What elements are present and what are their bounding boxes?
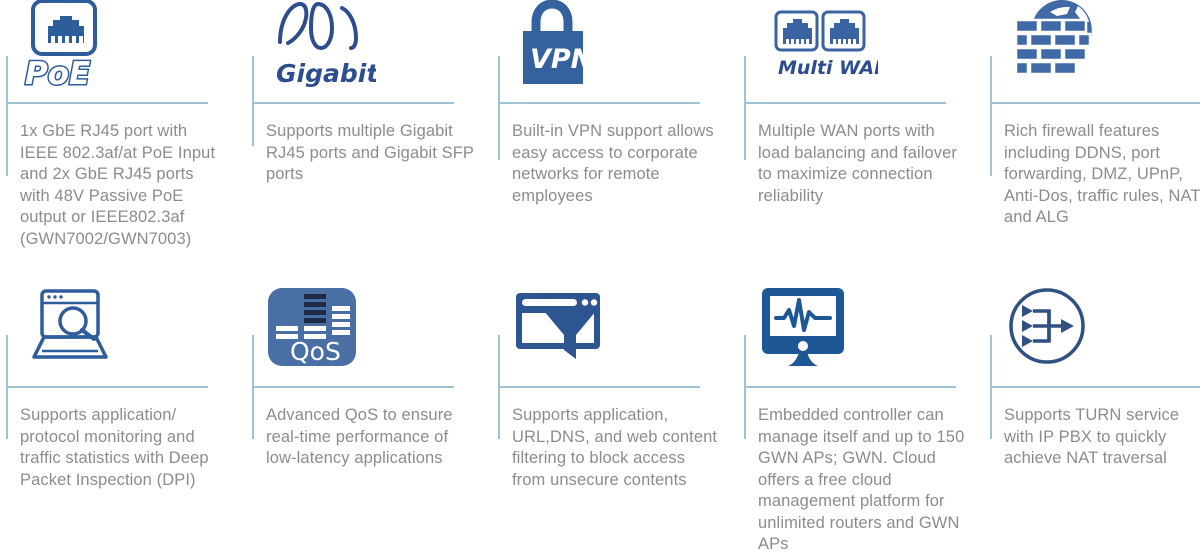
icon-container (984, 279, 1196, 379)
vertical-rule (744, 335, 746, 439)
feature-card-firewall: Rich firewall features including DDNS, p… (984, 0, 1196, 250)
feature-description: Embedded controller can manage itself an… (758, 405, 966, 556)
vpn-lock-icon: VPN (512, 0, 600, 95)
horizontal-rule (252, 102, 454, 104)
icon-container (984, 0, 1196, 95)
horizontal-rule (498, 386, 700, 388)
horizontal-rule (744, 102, 946, 104)
feature-card-poe: PoE 1x GbE RJ45 port with IEEE 802.3af/a… (0, 0, 246, 250)
feature-card-qos: QoS Advanced QoS to ensure real-time per… (246, 279, 492, 556)
icon-container: Gigabit (246, 0, 492, 95)
icon-container: QoS (246, 279, 492, 379)
turn-nat-traversal-icon (1004, 286, 1090, 373)
laptop-magnifier-icon (20, 287, 120, 372)
vertical-rule (6, 56, 8, 176)
feature-description: 1x GbE RJ45 port with IEEE 802.3af/at Po… (20, 121, 228, 250)
vertical-rule (990, 56, 992, 176)
feature-row-2: Supports application/ protocol monitorin… (0, 279, 1200, 556)
horizontal-rule (990, 386, 1200, 388)
svg-text:PoE: PoE (25, 56, 90, 90)
web-filter-funnel-icon (512, 287, 604, 372)
feature-card-web-filter: Supports application, URL,DNS, and web c… (492, 279, 738, 556)
horizontal-rule (744, 386, 956, 388)
feature-description: Advanced QoS to ensure real-time perform… (266, 405, 474, 470)
poe-icon: PoE (20, 0, 112, 95)
horizontal-rule (6, 102, 208, 104)
vertical-rule (744, 56, 746, 160)
multi-wan-icon: Multi WAN (758, 0, 878, 95)
icon-container (492, 279, 738, 379)
icon-container (0, 279, 246, 379)
gigabit-icon: Gigabit (266, 0, 376, 95)
firewall-globe-icon (1004, 0, 1104, 95)
feature-grid: PoE 1x GbE RJ45 port with IEEE 802.3af/a… (0, 0, 1200, 544)
icon-container: Multi WAN (738, 0, 984, 95)
feature-description: Rich firewall features including DDNS, p… (1004, 121, 1200, 229)
feature-card-controller: Embedded controller can manage itself an… (738, 279, 984, 556)
vertical-rule (498, 335, 500, 439)
icon-container: PoE (0, 0, 246, 95)
feature-card-dpi: Supports application/ protocol monitorin… (0, 279, 246, 556)
feature-row-1: PoE 1x GbE RJ45 port with IEEE 802.3af/a… (0, 0, 1200, 250)
feature-card-gigabit: Gigabit Supports multiple Gigabit RJ45 p… (246, 0, 492, 250)
horizontal-rule (6, 386, 208, 388)
feature-card-turn: Supports TURN service with IP PBX to qui… (984, 279, 1196, 556)
qos-equalizer-icon: QoS (266, 286, 358, 373)
feature-description: Supports TURN service with IP PBX to qui… (1004, 405, 1200, 470)
svg-text:QoS: QoS (290, 337, 341, 366)
svg-text:VPN: VPN (530, 44, 594, 75)
controller-monitor-icon (758, 286, 848, 373)
vertical-rule (252, 56, 254, 146)
feature-description: Built-in VPN support allows easy access … (512, 121, 720, 207)
icon-container (738, 279, 984, 379)
feature-card-multi-wan: Multi WAN Multiple WAN ports with load b… (738, 0, 984, 250)
feature-description: Multiple WAN ports with load balancing a… (758, 121, 966, 207)
feature-description: Supports application, URL,DNS, and web c… (512, 405, 720, 491)
icon-container: VPN (492, 0, 738, 95)
feature-card-vpn: VPN Built-in VPN support allows easy acc… (492, 0, 738, 250)
vertical-rule (990, 335, 992, 439)
vertical-rule (252, 335, 254, 439)
svg-text:Multi WAN: Multi WAN (778, 57, 878, 79)
feature-description: Supports multiple Gigabit RJ45 ports and… (266, 121, 474, 186)
feature-description: Supports application/ protocol monitorin… (20, 405, 228, 491)
vertical-rule (498, 56, 500, 160)
svg-text:Gigabit: Gigabit (276, 59, 376, 88)
horizontal-rule (498, 102, 700, 104)
horizontal-rule (990, 102, 1200, 104)
vertical-rule (6, 335, 8, 439)
horizontal-rule (252, 386, 454, 388)
